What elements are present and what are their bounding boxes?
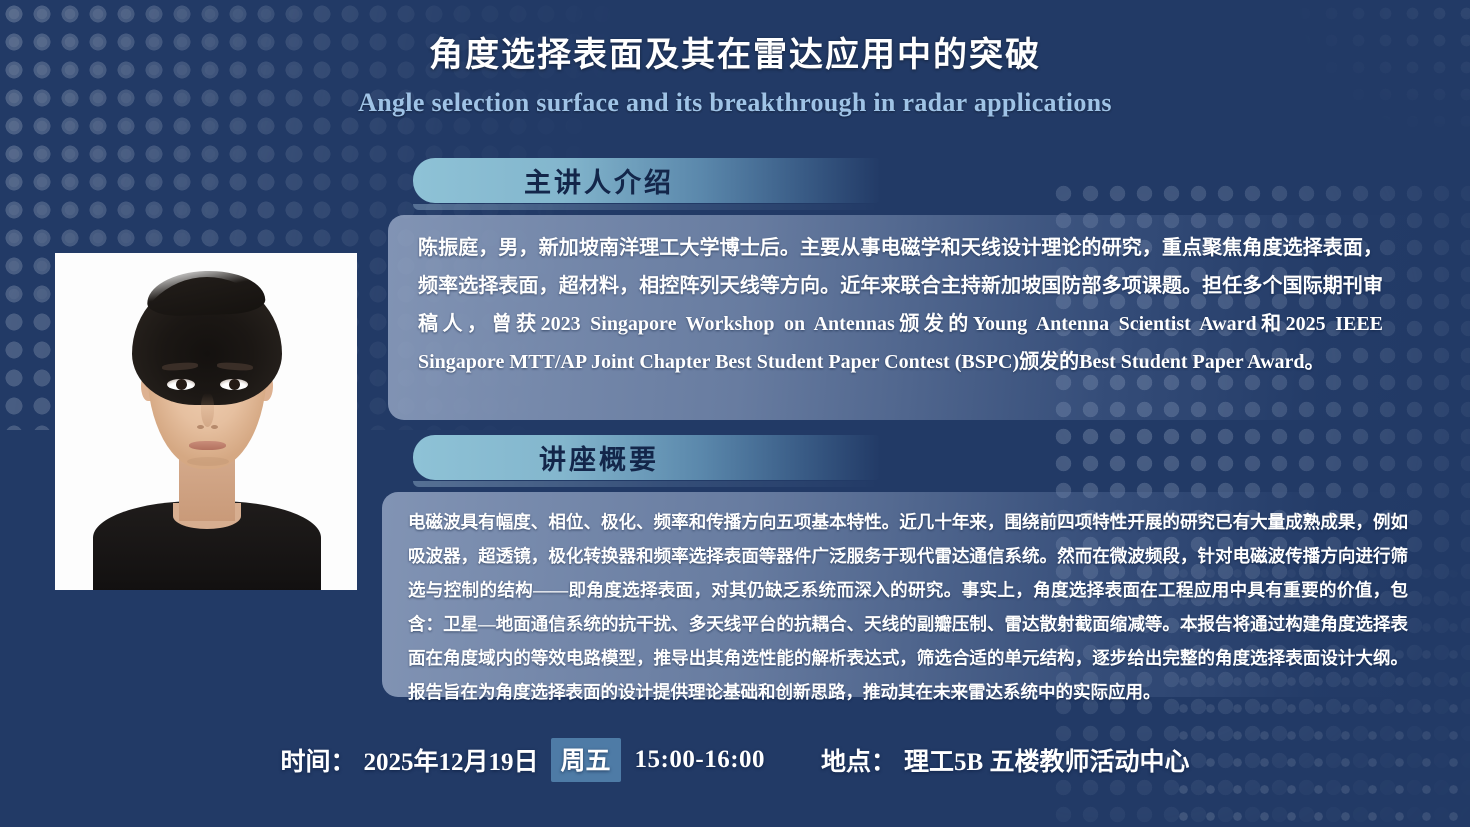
- portrait-pupil-right: [229, 379, 240, 390]
- seminar-poster: 角度选择表面及其在雷达应用中的突破 Angle selection surfac…: [0, 0, 1470, 827]
- event-weekday-badge: 周五: [551, 738, 621, 782]
- abstract-text: 电磁波具有幅度、相位、极化、频率和传播方向五项基本特性。近几十年来，围绕前四项特…: [408, 505, 1408, 709]
- section-header-abstract-label: 讲座概要: [539, 438, 659, 477]
- portrait-mouth: [189, 441, 226, 450]
- page-title-cn: 角度选择表面及其在雷达应用中的突破: [0, 34, 1470, 77]
- section-header-speaker: 主讲人介绍: [413, 158, 881, 203]
- place-label: 地点：: [821, 742, 896, 778]
- title-block: 角度选择表面及其在雷达应用中的突破 Angle selection surfac…: [0, 34, 1470, 118]
- portrait-nose: [201, 393, 214, 427]
- section-header-abstract: 讲座概要: [413, 435, 881, 480]
- portrait-nostril-right: [211, 425, 218, 429]
- event-time-range: 15:00-16:00: [635, 746, 765, 774]
- portrait-nostril-left: [197, 425, 204, 429]
- section-header-speaker-label: 主讲人介绍: [524, 161, 674, 200]
- event-location: 理工5B 五楼教师活动中心: [904, 742, 1189, 778]
- portrait-chin-shadow: [187, 457, 229, 466]
- page-title-en: Angle selection surface and its breakthr…: [0, 88, 1470, 118]
- portrait-hair-tuft: [146, 269, 265, 317]
- speaker-photo: [55, 253, 357, 590]
- event-date: 2025年12月19日: [364, 742, 539, 778]
- portrait-illustration: [55, 253, 357, 590]
- portrait-pupil-left: [176, 379, 187, 390]
- time-label: 时间：: [281, 742, 356, 778]
- event-details-bar: 时间： 2025年12月19日 周五 15:00-16:00 地点： 理工5B …: [0, 738, 1470, 782]
- speaker-bio-text: 陈振庭，男，新加坡南洋理工大学博士后。主要从事电磁学和天线设计理论的研究，重点聚…: [418, 229, 1383, 381]
